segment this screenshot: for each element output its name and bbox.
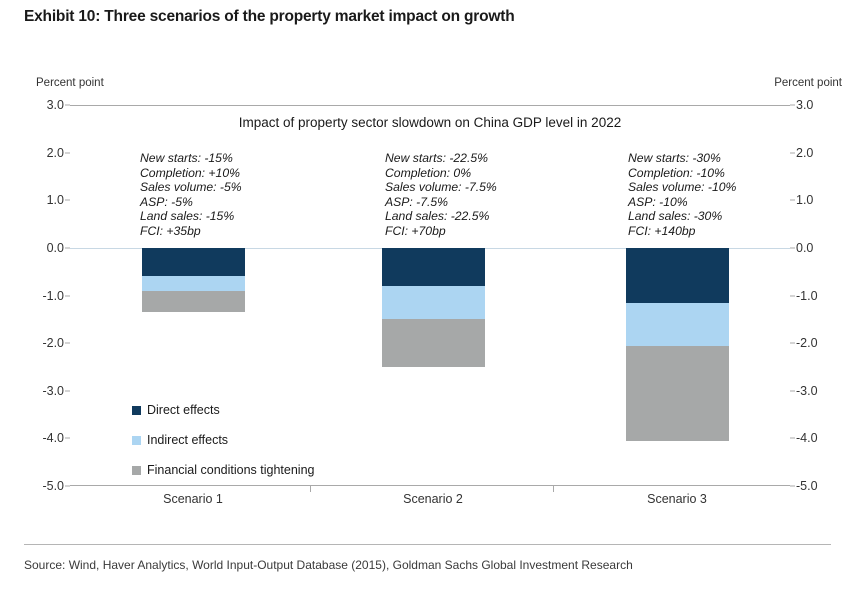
y-tick-label-left: 0.0 xyxy=(47,242,64,255)
bar-segment[interactable] xyxy=(626,303,729,346)
y-tick-label-right: 2.0 xyxy=(796,146,813,159)
y-tick-label-left: 1.0 xyxy=(47,194,64,207)
y-tick-mark-left xyxy=(65,247,70,248)
y-tick-mark-left xyxy=(65,438,70,439)
y-tick-mark-right xyxy=(790,247,795,248)
y-tick-mark-right xyxy=(790,343,795,344)
bar-group-3 xyxy=(626,105,729,486)
y-tick-mark-right xyxy=(790,105,795,106)
y-tick-mark-right xyxy=(790,152,795,153)
legend-label: Financial conditions tightening xyxy=(147,463,314,477)
x-axis-label: Scenario 2 xyxy=(373,492,493,506)
legend-swatch-icon xyxy=(132,406,141,415)
y-tick-label-left: -1.0 xyxy=(42,289,64,302)
y-tick-label-right: 3.0 xyxy=(796,99,813,112)
y-tick-label-left: 3.0 xyxy=(47,99,64,112)
y-tick-mark-left xyxy=(65,295,70,296)
y-tick-label-left: -4.0 xyxy=(42,432,64,445)
x-axis-tick xyxy=(310,486,311,492)
right-axis-unit-label: Percent point xyxy=(774,77,842,89)
y-tick-mark-left xyxy=(65,152,70,153)
bar-segment[interactable] xyxy=(142,248,245,277)
y-tick-mark-right xyxy=(790,438,795,439)
x-axis-label: Scenario 1 xyxy=(133,492,253,506)
chart-legend: Direct effectsIndirect effectsFinancial … xyxy=(132,395,314,485)
y-tick-label-left: 2.0 xyxy=(47,146,64,159)
legend-swatch-icon xyxy=(132,466,141,475)
y-tick-mark-left xyxy=(65,390,70,391)
legend-label: Direct effects xyxy=(147,403,220,417)
legend-swatch-icon xyxy=(132,436,141,445)
y-tick-label-right: -2.0 xyxy=(796,337,818,350)
y-tick-label-left: -3.0 xyxy=(42,385,64,398)
bar-segment[interactable] xyxy=(382,319,485,367)
y-tick-mark-right xyxy=(790,486,795,487)
chart-plot-area: Impact of property sector slowdown on Ch… xyxy=(70,105,790,486)
bar-segment[interactable] xyxy=(382,248,485,286)
y-tick-label-right: -5.0 xyxy=(796,480,818,493)
legend-item[interactable]: Indirect effects xyxy=(132,425,314,455)
bar-segment[interactable] xyxy=(382,286,485,319)
bar-segment[interactable] xyxy=(142,276,245,290)
source-divider xyxy=(24,544,831,545)
y-tick-mark-right xyxy=(790,390,795,391)
y-tick-mark-left xyxy=(65,105,70,106)
y-tick-mark-left xyxy=(65,343,70,344)
source-note: Source: Wind, Haver Analytics, World Inp… xyxy=(24,558,633,572)
y-tick-mark-left xyxy=(65,486,70,487)
y-tick-label-right: -3.0 xyxy=(796,385,818,398)
bar-segment[interactable] xyxy=(626,248,729,303)
y-tick-label-right: 0.0 xyxy=(796,242,813,255)
y-tick-label-right: -4.0 xyxy=(796,432,818,445)
y-tick-mark-right xyxy=(790,200,795,201)
y-tick-label-left: -2.0 xyxy=(42,337,64,350)
bar-segment[interactable] xyxy=(626,346,729,441)
x-axis-label: Scenario 3 xyxy=(617,492,737,506)
y-tick-label-right: -1.0 xyxy=(796,289,818,302)
left-axis-unit-label: Percent point xyxy=(36,77,104,89)
y-tick-mark-right xyxy=(790,295,795,296)
y-tick-mark-left xyxy=(65,200,70,201)
legend-label: Indirect effects xyxy=(147,433,228,447)
x-axis-tick xyxy=(553,486,554,492)
y-tick-label-left: -5.0 xyxy=(42,480,64,493)
legend-item[interactable]: Direct effects xyxy=(132,395,314,425)
bar-group-2 xyxy=(382,105,485,486)
y-tick-label-right: 1.0 xyxy=(796,194,813,207)
bar-segment[interactable] xyxy=(142,291,245,312)
legend-item[interactable]: Financial conditions tightening xyxy=(132,455,314,485)
page-title: Exhibit 10: Three scenarios of the prope… xyxy=(24,8,514,26)
